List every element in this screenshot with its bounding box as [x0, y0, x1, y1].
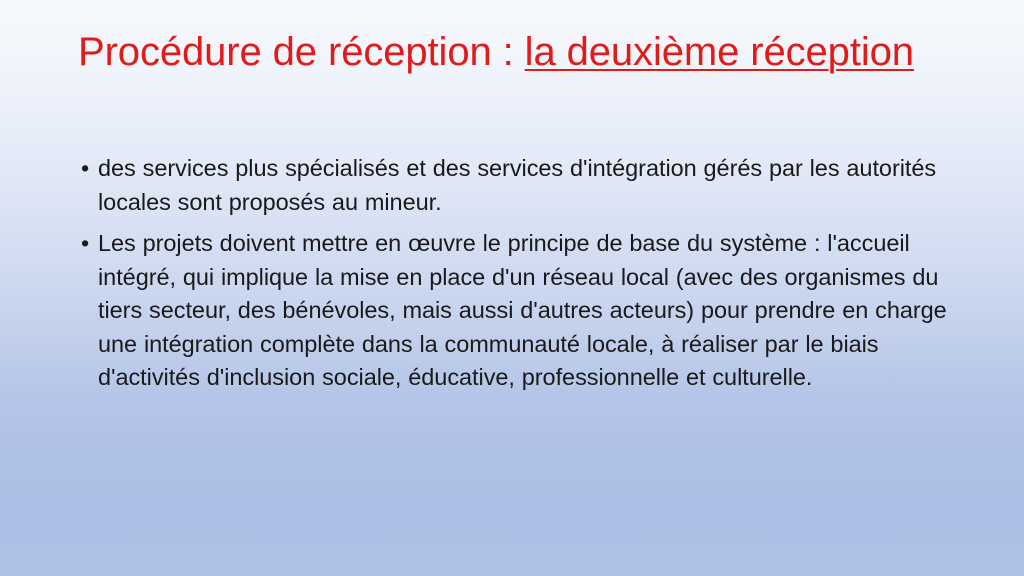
presentation-slide: Procédure de réception : la deuxième réc…	[0, 0, 1024, 576]
slide-body: • des services plus spécialisés et des s…	[78, 152, 958, 395]
slide-title-underlined: la deuxième réception	[525, 30, 914, 74]
bullet-point-icon: •	[81, 227, 95, 261]
list-item: • des services plus spécialisés et des s…	[78, 152, 958, 219]
slide-title-plain: Procédure de réception :	[78, 30, 525, 74]
bullet-point-icon: •	[81, 152, 95, 186]
list-item-text: Les projets doivent mettre en œuvre le p…	[98, 227, 958, 395]
list-item: • Les projets doivent mettre en œuvre le…	[78, 227, 958, 395]
list-item-text: des services plus spécialisés et des ser…	[98, 152, 958, 219]
slide-title: Procédure de réception : la deuxième réc…	[78, 28, 958, 76]
